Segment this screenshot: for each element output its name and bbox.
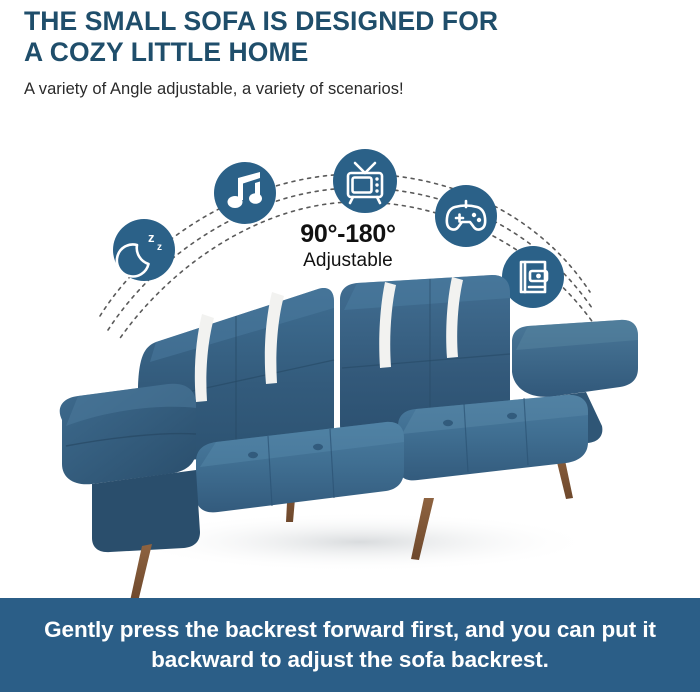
instruction-text: Gently press the backrest forward first,… — [20, 615, 680, 675]
page-subtitle: A variety of Angle adjustable, a variety… — [24, 78, 684, 100]
sofa-illustration — [0, 250, 700, 600]
left-armrest — [60, 384, 200, 552]
music-note-icon — [214, 162, 276, 224]
instruction-banner: Gently press the backrest forward first,… — [0, 598, 700, 692]
product-infographic: THE SMALL SOFA IS DESIGNED FOR A COZY LI… — [0, 0, 700, 700]
page-title: THE SMALL SOFA IS DESIGNED FOR A COZY LI… — [24, 6, 684, 68]
header-block: THE SMALL SOFA IS DESIGNED FOR A COZY LI… — [24, 6, 684, 100]
angle-range-value: 90°-180° — [248, 222, 448, 247]
svg-text:z: z — [148, 230, 155, 245]
television-icon — [333, 149, 397, 213]
left-base-panel — [92, 470, 200, 552]
product-image — [0, 250, 700, 600]
